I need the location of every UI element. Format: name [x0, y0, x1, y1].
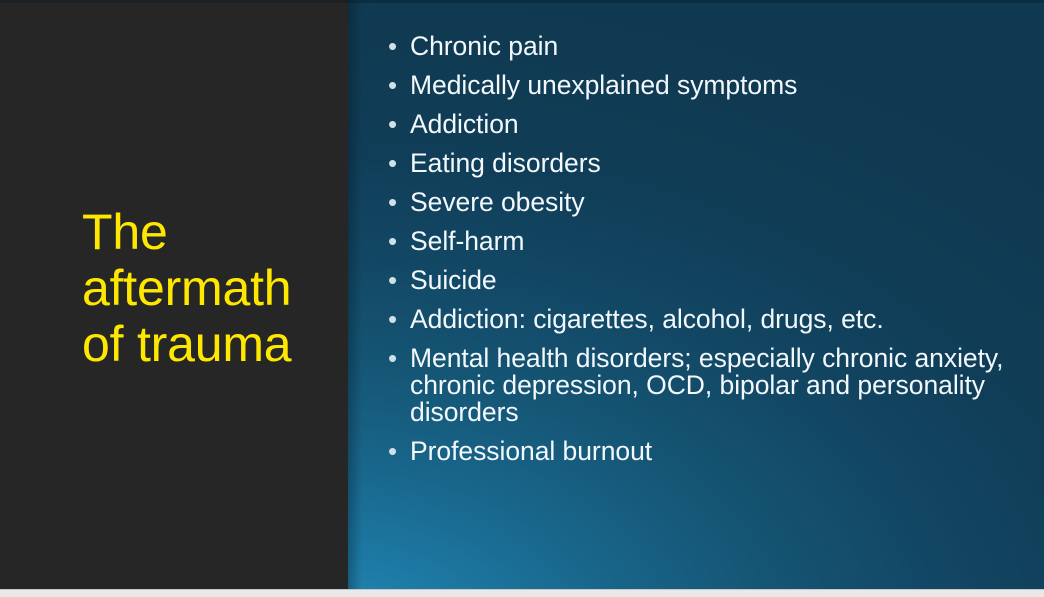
title-line: aftermath — [82, 260, 332, 316]
bullet-text: Professional burnout — [410, 438, 1010, 465]
list-item: • Suicide — [385, 267, 1010, 294]
slide-bottom-strip — [0, 589, 1044, 597]
bullet-marker-icon: • — [385, 438, 410, 465]
title-line: The — [82, 204, 332, 260]
list-item: • Severe obesity — [385, 189, 1010, 216]
bullet-text: Mental health disorders; especially chro… — [410, 345, 1010, 426]
list-item: • Eating disorders — [385, 150, 1010, 177]
bullet-list: • Chronic pain • Medically unexplained s… — [385, 33, 1010, 477]
list-item: • Addiction: cigarettes, alcohol, drugs,… — [385, 306, 1010, 333]
bullet-text: Addiction — [410, 111, 1010, 138]
bullet-marker-icon: • — [385, 267, 410, 294]
slide-title: The aftermath of trauma — [82, 204, 332, 372]
bullet-marker-icon: • — [385, 189, 410, 216]
bullet-text: Chronic pain — [410, 33, 1010, 60]
bullet-text: Eating disorders — [410, 150, 1010, 177]
bullet-marker-icon: • — [385, 345, 410, 372]
bullet-text: Addiction: cigarettes, alcohol, drugs, e… — [410, 306, 1010, 333]
presentation-slide: • Chronic pain • Medically unexplained s… — [0, 0, 1044, 597]
title-panel: The aftermath of trauma — [0, 0, 348, 589]
list-item: • Medically unexplained symptoms — [385, 72, 1010, 99]
bullet-marker-icon: • — [385, 306, 410, 333]
bullet-text: Self-harm — [410, 228, 1010, 255]
bullet-marker-icon: • — [385, 72, 410, 99]
bullet-marker-icon: • — [385, 33, 410, 60]
list-item: • Addiction — [385, 111, 1010, 138]
slide-canvas: • Chronic pain • Medically unexplained s… — [0, 0, 1044, 589]
bullet-marker-icon: • — [385, 228, 410, 255]
bullet-text: Medically unexplained symptoms — [410, 72, 1010, 99]
list-item: • Professional burnout — [385, 438, 1010, 465]
list-item: • Self-harm — [385, 228, 1010, 255]
bullet-marker-icon: • — [385, 111, 410, 138]
list-item: • Chronic pain — [385, 33, 1010, 60]
title-line: of trauma — [82, 316, 332, 372]
bullet-marker-icon: • — [385, 150, 410, 177]
list-item: • Mental health disorders; especially ch… — [385, 345, 1010, 426]
panel-seam-shading — [348, 0, 362, 589]
bullet-text: Suicide — [410, 267, 1010, 294]
bullet-text: Severe obesity — [410, 189, 1010, 216]
content-panel: • Chronic pain • Medically unexplained s… — [348, 0, 1044, 589]
